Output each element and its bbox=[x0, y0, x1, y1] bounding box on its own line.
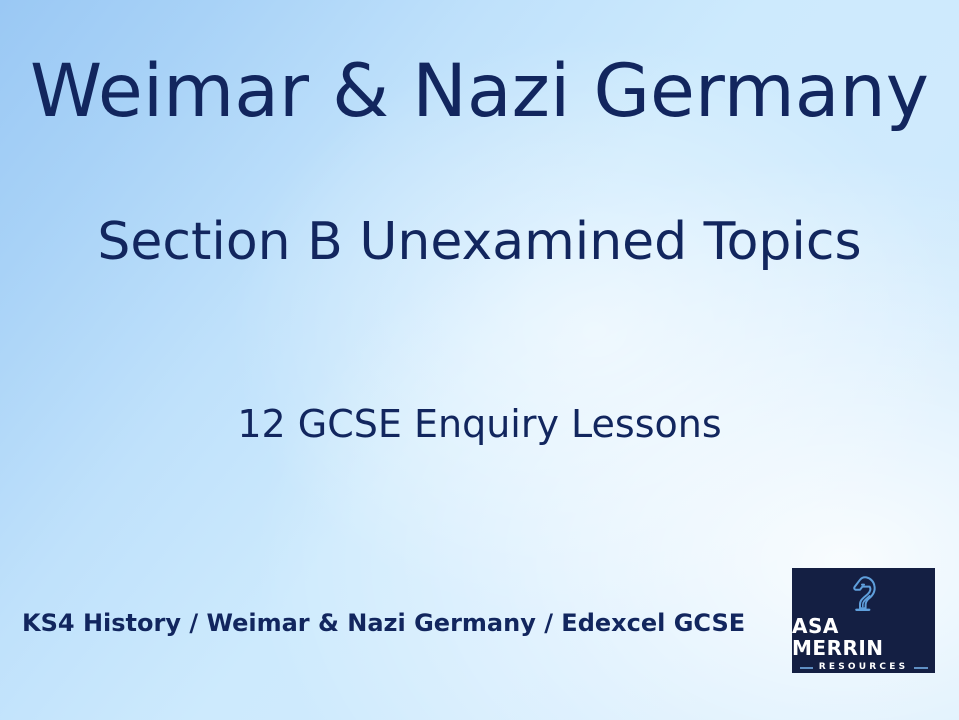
logo-rule-right bbox=[914, 667, 927, 669]
logo-brand-sub: RESOURCES bbox=[813, 662, 914, 673]
slide-subtitle: Section B Unexamined Topics bbox=[0, 211, 959, 273]
logo-rule-left bbox=[800, 667, 813, 669]
asa-merrin-logo: ASA MERRIN RESOURCES bbox=[792, 568, 935, 673]
slide-tagline: 12 GCSE Enquiry Lessons bbox=[0, 401, 959, 447]
chess-knight-icon bbox=[840, 573, 888, 613]
logo-subtitle-row: RESOURCES bbox=[800, 662, 928, 673]
page-title: Weimar & Nazi Germany bbox=[0, 50, 959, 134]
presentation-slide: Weimar & Nazi Germany Section B Unexamin… bbox=[0, 0, 959, 720]
logo-brand-name: ASA MERRIN bbox=[792, 615, 935, 659]
slide-footer-breadcrumb: KS4 History / Weimar & Nazi Germany / Ed… bbox=[22, 607, 745, 639]
